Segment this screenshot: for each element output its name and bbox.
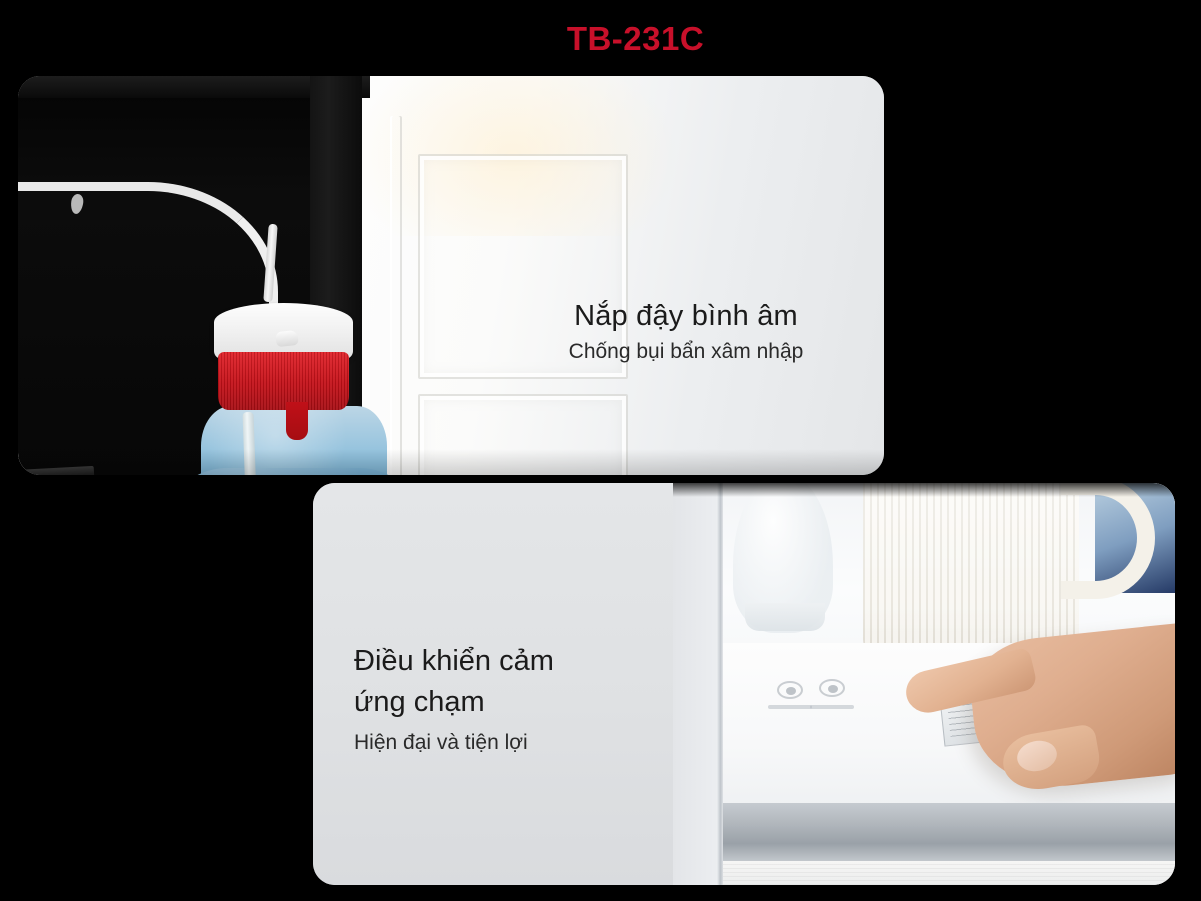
touch-feature-text-block: Điều khiển cảm ứng chạm Hiện đại và tiện… <box>354 641 674 755</box>
photo-top-fade <box>673 483 1175 497</box>
lid-feature-text-block: Nắp đậy bình âm Chống bụi bẩn xâm nhập <box>488 298 884 364</box>
bottle-cap-red-ring <box>218 352 349 410</box>
touch-button-cold-left[interactable] <box>819 679 845 697</box>
photo-wall-strip <box>673 483 719 885</box>
bottle-cap-red-tab <box>286 402 308 440</box>
touch-button-label-left-2 <box>810 705 854 709</box>
photo-bottom-fade <box>18 449 884 475</box>
touch-feature-headline-line2: ứng chạm <box>354 682 674 723</box>
bottle-cap-nub <box>275 330 298 347</box>
silver-drip-tray-bar <box>723 803 1175 861</box>
touch-button-label-left-1 <box>768 705 812 709</box>
screenshot-canvas: TB-231C Nắp đậy <box>0 0 1201 901</box>
touch-button-hot-left[interactable] <box>777 681 803 699</box>
feature-panel-lid: Nắp đậy bình âm Chống bụi bẩn xâm nhập <box>18 76 884 475</box>
wall-moulding-divider <box>390 116 402 475</box>
touch-feature-subline: Hiện đại và tiện lợi <box>354 731 674 755</box>
touch-feature-headline-line1: Điều khiển cảm <box>354 641 674 682</box>
lid-feature-subline: Chống bụi bẩn xâm nhập <box>488 340 884 364</box>
lid-feature-headline: Nắp đậy bình âm <box>488 298 884 334</box>
feature-panel-touch-control: Điều khiển cảm ứng chạm Hiện đại và tiện… <box>313 483 1175 885</box>
glass-pot-base <box>745 603 825 631</box>
cabinet-front-panel <box>723 861 1175 885</box>
touch-control-photo <box>673 483 1175 885</box>
product-model-title: TB-231C <box>0 20 1201 58</box>
